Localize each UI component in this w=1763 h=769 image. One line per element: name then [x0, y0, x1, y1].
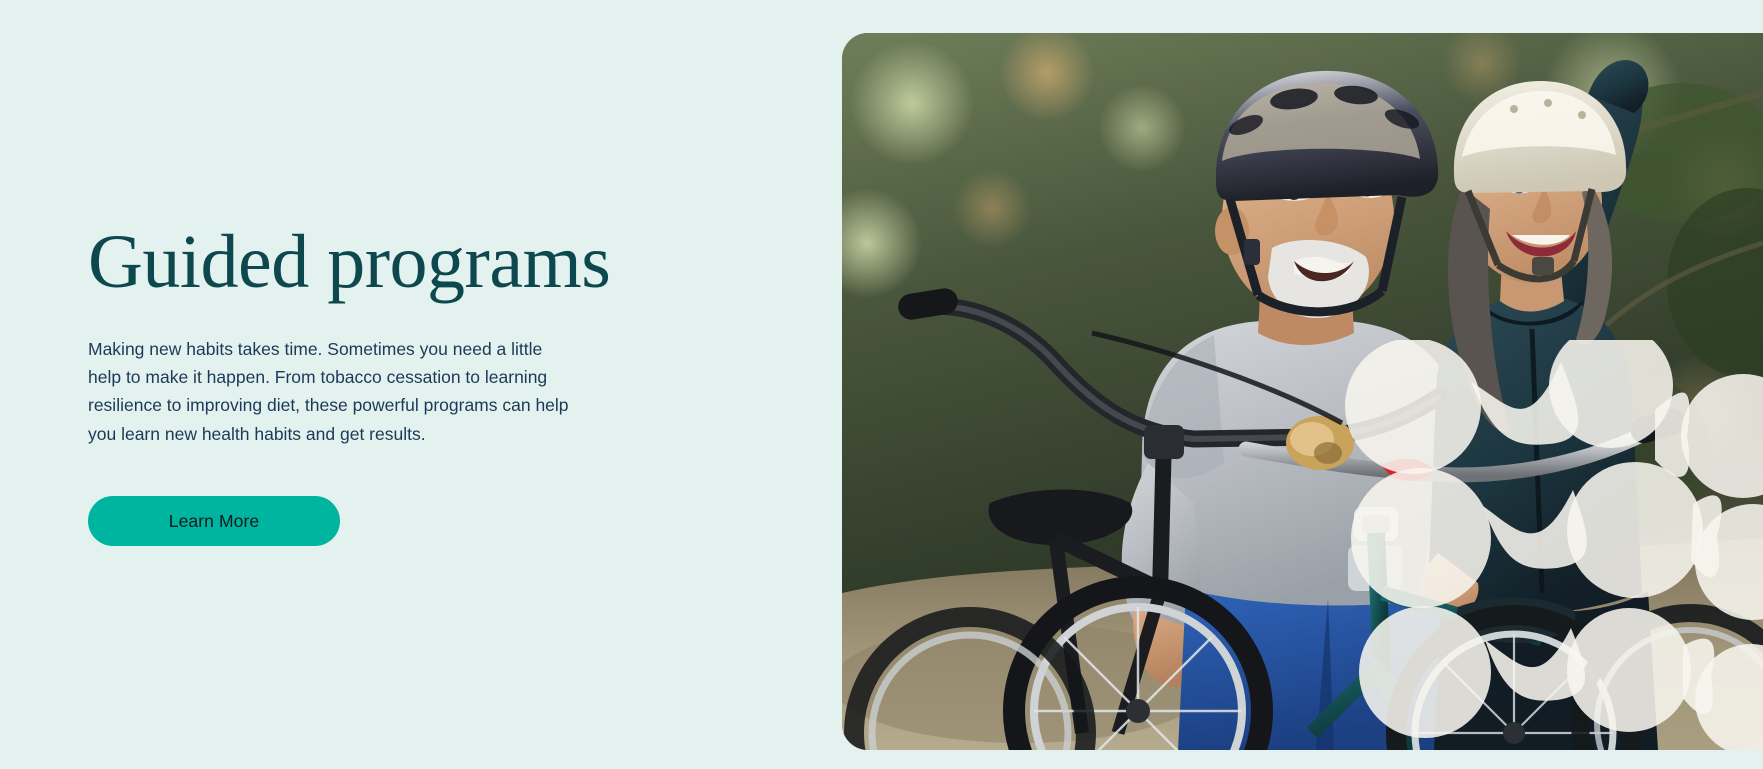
guided-programs-hero: Guided programs Making new habits takes … — [0, 0, 1763, 769]
learn-more-button[interactable]: Learn More — [88, 496, 340, 546]
hero-copy-column: Guided programs Making new habits takes … — [88, 0, 668, 769]
hero-media-panel: Two smiling older adults wearing bicycle… — [842, 33, 1763, 750]
cyclists-photo: Two smiling older adults wearing bicycle… — [842, 33, 1763, 750]
hero-description: Making new habits takes time. Sometimes … — [88, 335, 570, 448]
page-title: Guided programs — [88, 223, 610, 303]
